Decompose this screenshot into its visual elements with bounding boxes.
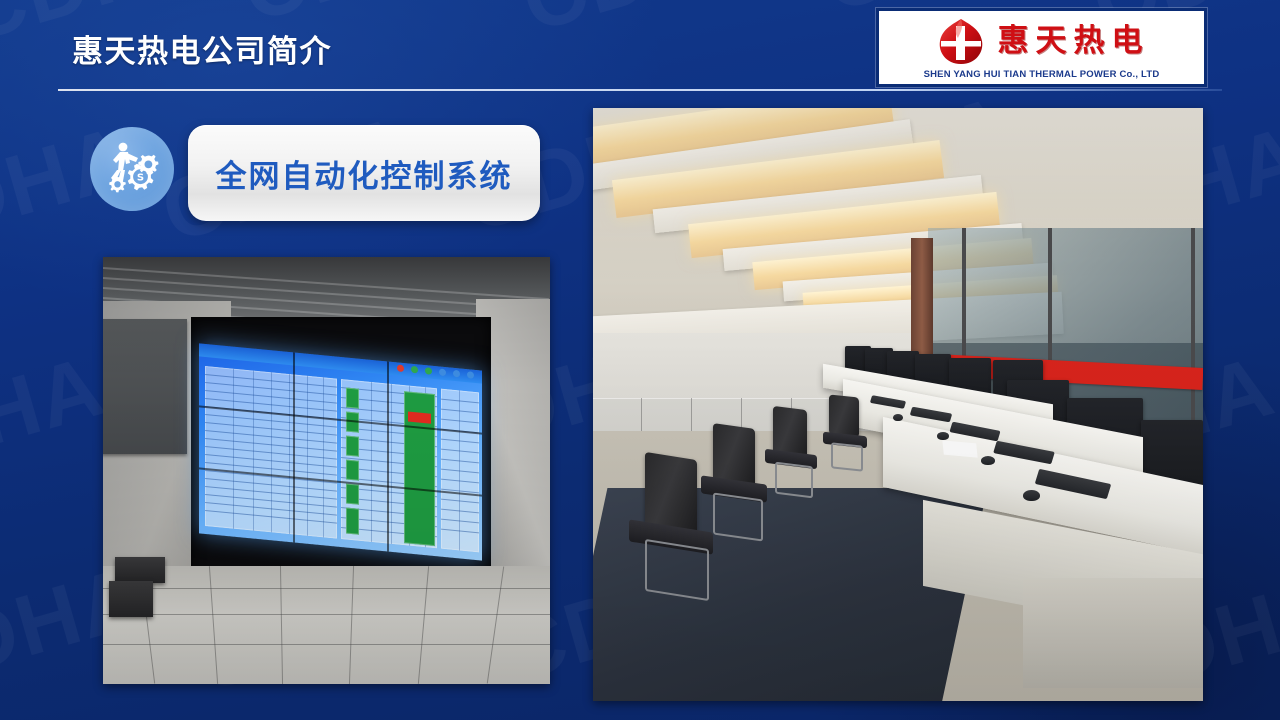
- office-chair: [645, 452, 697, 534]
- office-chair-leg: [713, 492, 763, 541]
- slide-root: CDHA CDHA CDHA CDHA CDHA CDHA CDHA CDHA …: [0, 0, 1280, 720]
- equipment-box: [109, 581, 153, 617]
- mouse: [1023, 490, 1040, 501]
- title-divider: [58, 89, 1222, 91]
- caption-pill: 全网自动化控制系统: [188, 125, 540, 221]
- caption-text: 全网自动化控制系统: [216, 151, 513, 196]
- status-cell-green: [346, 508, 359, 535]
- page-title: 惠天热电公司简介: [72, 26, 332, 71]
- automation-icon-badge: S: [90, 127, 174, 211]
- worker-gears-icon: S: [101, 138, 163, 200]
- status-dot-blue: [439, 368, 446, 376]
- status-cell-green: [346, 484, 359, 505]
- mouse: [937, 432, 949, 440]
- status-cell-red: [408, 411, 431, 423]
- status-cell-green: [346, 460, 359, 481]
- data-table-left: [205, 366, 337, 539]
- status-dot-green: [411, 366, 418, 374]
- office-chair-leg: [775, 462, 813, 499]
- data-table-right: [441, 389, 479, 553]
- office-chair: [829, 394, 859, 437]
- status-dot-blue: [453, 370, 460, 378]
- scada-dashboard-screen: [199, 343, 482, 560]
- company-logo: 惠天热电 SHEN YANG HUI TIAN THERMAL POWER Co…: [876, 8, 1207, 87]
- status-cell-green: [346, 436, 359, 457]
- paper-sheet: [942, 440, 977, 457]
- status-dot-green: [425, 367, 432, 375]
- status-dot-red: [397, 364, 404, 372]
- logo-row: 惠天热电: [934, 18, 1150, 66]
- equipment-box: [115, 557, 165, 583]
- control-room-photo: [593, 108, 1203, 701]
- huitian-flame-emblem-icon: [934, 18, 988, 66]
- window-blind: [103, 319, 187, 454]
- mouse: [893, 414, 903, 421]
- video-wall-photo: [103, 257, 550, 684]
- svg-text:S: S: [137, 173, 144, 184]
- desk-pedestal: [1023, 578, 1203, 688]
- mouse: [981, 456, 995, 465]
- status-cell-green: [346, 388, 359, 409]
- logo-chinese-name: 惠天热电: [998, 26, 1150, 57]
- tiled-floor: [103, 566, 550, 684]
- status-dot-blue: [467, 371, 474, 379]
- logo-english-name: SHEN YANG HUI TIAN THERMAL POWER Co., LT…: [924, 69, 1160, 80]
- watermark-text: CDHA: [0, 337, 115, 503]
- office-chair-leg: [645, 539, 709, 601]
- office-chair-leg: [831, 442, 863, 471]
